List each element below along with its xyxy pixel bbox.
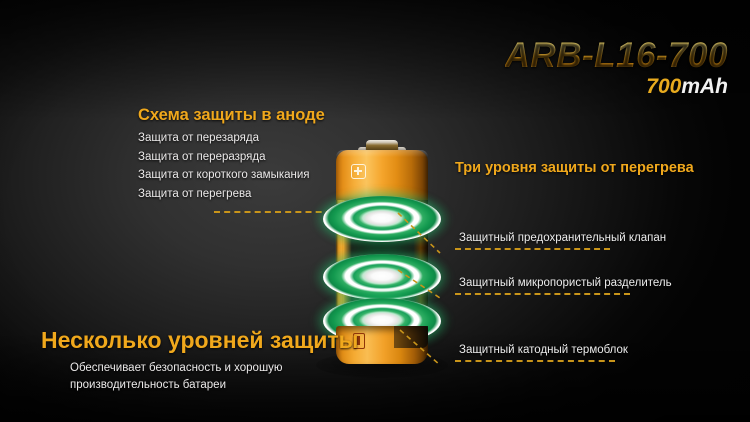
- capacity-unit: mAh: [681, 75, 728, 98]
- plus-terminal-icon: [351, 164, 366, 179]
- callout-cathode-thermoblock: Защитный катодный термоблок: [455, 344, 628, 362]
- anode-feature-item: Защита от короткого замыкания: [138, 166, 310, 185]
- callout-label: Защитный микропористый разделитель: [455, 277, 672, 289]
- product-model-title: ARB-L16-700: [505, 38, 728, 73]
- anode-feature-item: Защита от переразряда: [138, 148, 310, 167]
- battery-cap-highlight: [336, 150, 428, 157]
- callout-microporous-separator: Защитный микропористый разделитель: [455, 277, 672, 295]
- anode-feature-item: Защита от перегрева: [138, 185, 310, 204]
- overheat-section-heading: Три уровня защиты от перегрева: [455, 160, 694, 176]
- callout-underline: [455, 293, 630, 295]
- callout-label: Защитный катодный термоблок: [455, 344, 628, 356]
- callout-safety-valve: Защитный предохранительный клапан: [455, 232, 666, 250]
- callout-underline: [455, 360, 615, 362]
- anode-feature-list: Защита от перезаряда Защита от переразря…: [138, 129, 310, 204]
- callout-label: Защитный предохранительный клапан: [455, 232, 666, 244]
- battery-bottom-shade: [394, 326, 428, 348]
- product-title-block: ARB-L16-700 700mAh: [505, 38, 728, 97]
- anode-section-heading: Схема защиты в аноде: [138, 106, 325, 125]
- protection-ring-1: [323, 196, 441, 242]
- ring-core: [323, 196, 441, 242]
- multilevel-section-heading: Несколько уровней защиты: [41, 327, 358, 354]
- multilevel-body-line: Обеспечивает безопасность и хорошую: [70, 360, 283, 377]
- multilevel-section-body: Обеспечивает безопасность и хорошую прои…: [70, 360, 283, 395]
- multilevel-body-line: производительность батареи: [70, 377, 283, 394]
- product-capacity: 700mAh: [505, 76, 728, 97]
- product-infographic: ARB-L16-700 700mAh Схема защиты в аноде …: [0, 0, 750, 422]
- anode-feature-item: Защита от перезаряда: [138, 129, 310, 148]
- callout-underline: [455, 248, 610, 250]
- capacity-value: 700: [646, 75, 681, 98]
